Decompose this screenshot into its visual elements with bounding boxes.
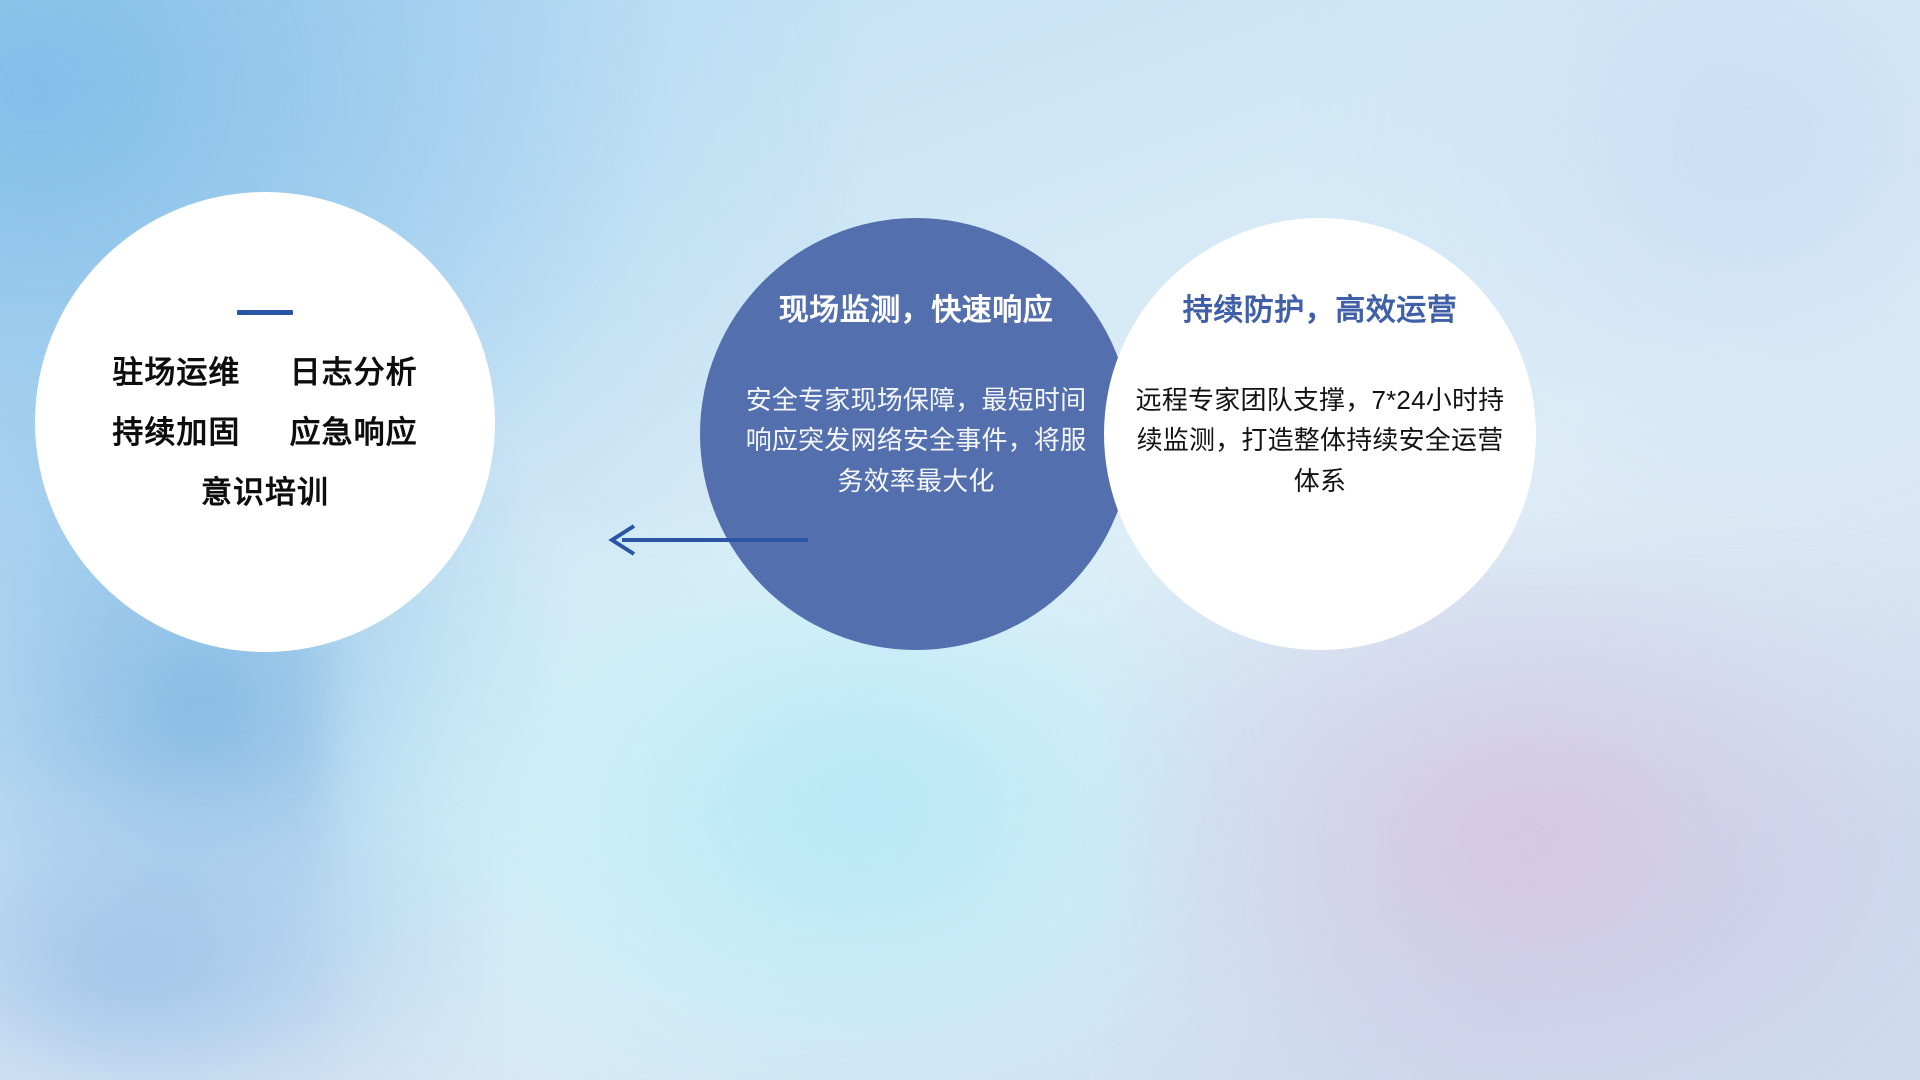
capability-label-zhuchangyunwei: 驻场运维 [112, 355, 240, 390]
capability-circle-left[interactable]: 驻场运维 日志分析 持续加固 应急响应 意识培训 [35, 192, 495, 652]
middle-circle-title: 现场监测，快速响应 [734, 294, 1098, 328]
right-circle-title: 持续防护，高效运营 [1126, 294, 1514, 328]
middle-circle-body: 安全专家现场保障，最短时间响应突发网络安全事件，将服务效率最大化 [734, 380, 1098, 502]
capability-label-yishipeixun: 意识培训 [201, 475, 329, 510]
capability-circle-middle[interactable]: 现场监测，快速响应 安全专家现场保障，最短时间响应突发网络安全事件，将服务效率最… [700, 218, 1132, 650]
background-glow-bottom-center [520, 620, 1220, 1080]
capability-list: 驻场运维 日志分析 持续加固 应急响应 意识培训 [35, 310, 495, 508]
capability-label-chixujiagu: 持续加固 [112, 415, 240, 450]
capability-row-2: 持续加固 应急响应 [73, 417, 457, 448]
right-circle-content: 持续防护，高效运营 远程专家团队支撑，7*24小时持续监测，打造整体持续安全运营… [1104, 294, 1536, 501]
capability-row-1: 驻场运维 日志分析 [73, 357, 457, 388]
middle-circle-content: 现场监测，快速响应 安全专家现场保障，最短时间响应突发网络安全事件，将服务效率最… [700, 294, 1132, 501]
capability-label-rizhifenxi: 日志分析 [290, 355, 418, 390]
capability-row-3: 意识培训 [73, 477, 457, 508]
divider-dash-icon [237, 310, 293, 315]
capability-label-yingjixiangying: 应急响应 [290, 415, 418, 450]
flow-arrow-left-icon [600, 518, 810, 562]
slide-canvas: 驻场运维 日志分析 持续加固 应急响应 意识培训 现场监测，快速响应 安全专家现… [0, 0, 1920, 1080]
capability-circle-right[interactable]: 持续防护，高效运营 远程专家团队支撑，7*24小时持续监测，打造整体持续安全运营… [1104, 218, 1536, 650]
background-glow-bottom-left [0, 760, 500, 1080]
right-circle-body: 远程专家团队支撑，7*24小时持续监测，打造整体持续安全运营体系 [1126, 380, 1514, 502]
